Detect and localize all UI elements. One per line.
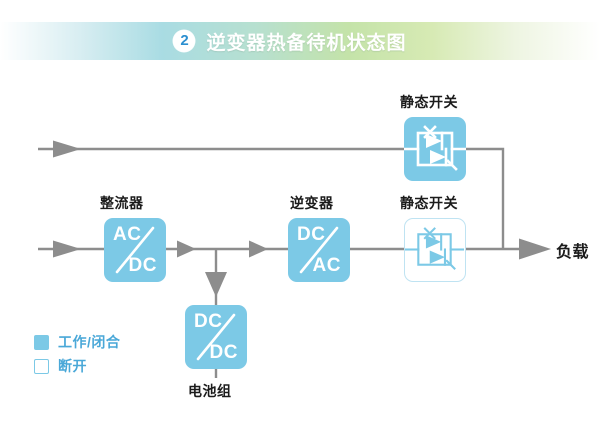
inverter-top-text: DC <box>297 224 325 246</box>
caption-inverter: 逆变器 <box>290 193 334 213</box>
block-inverter[interactable]: DC AC <box>288 218 350 282</box>
caption-rectifier: 整流器 <box>100 193 144 213</box>
bypass-output-line <box>466 149 503 249</box>
caption-static-switch-output: 静态开关 <box>400 193 458 213</box>
block-static-switch-output[interactable] <box>404 218 466 282</box>
legend-label-open: 断开 <box>58 356 87 376</box>
diagram-page: 2 逆变器热备待机状态图 <box>0 0 600 428</box>
block-rectifier[interactable]: AC DC <box>104 218 166 282</box>
battery-top-text: DC <box>194 311 222 333</box>
legend-label-active: 工作/闭合 <box>58 332 120 352</box>
rectifier-top-text: AC <box>113 224 141 246</box>
rectifier-output-arrow-icon <box>177 241 196 258</box>
mains-input-arrow-icon <box>53 241 81 258</box>
caption-static-switch-bypass: 静态开关 <box>400 92 458 112</box>
block-static-switch-bypass[interactable] <box>404 117 466 181</box>
legend-swatch-open <box>34 359 49 374</box>
load-label: 负载 <box>556 238 589 262</box>
legend-item-active: 工作/闭合 <box>34 330 120 354</box>
inverter-bottom-text: AC <box>313 255 341 277</box>
legend-swatch-active <box>34 335 49 350</box>
thyristor-antiparallel-icon <box>404 117 466 181</box>
block-battery[interactable]: DC DC <box>185 305 247 369</box>
load-output-arrow-icon <box>519 239 551 260</box>
legend-item-open: 断开 <box>34 354 120 378</box>
thyristor-antiparallel-icon <box>405 219 464 280</box>
battery-bottom-text: DC <box>210 342 238 364</box>
bypass-input-arrow-icon <box>53 141 81 158</box>
legend: 工作/闭合 断开 <box>34 330 120 378</box>
caption-battery: 电池组 <box>188 381 232 401</box>
battery-branch-arrow-icon <box>205 272 227 297</box>
rectifier-bottom-text: DC <box>129 255 157 277</box>
inverter-input-arrow-icon <box>249 241 268 258</box>
